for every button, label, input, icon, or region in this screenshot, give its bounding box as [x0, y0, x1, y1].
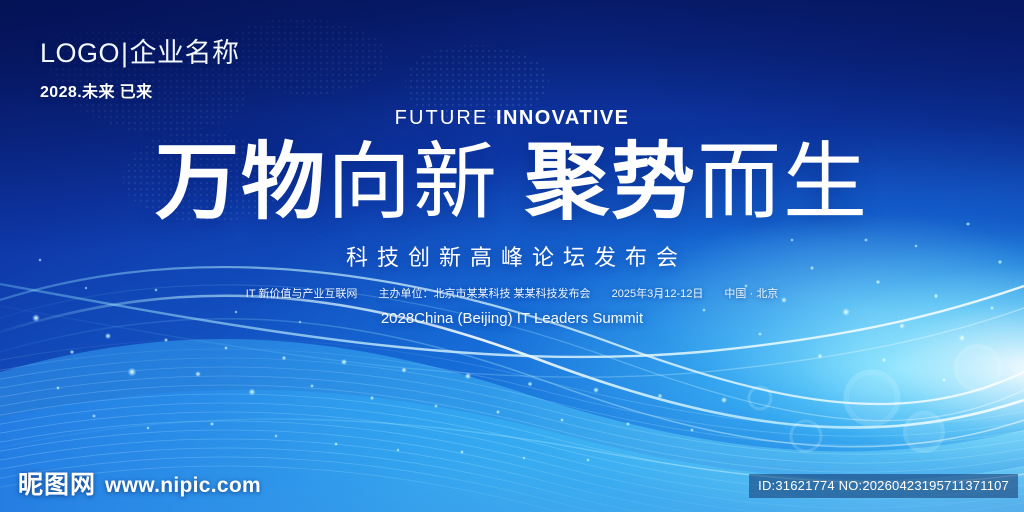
meta-location: 中国 · 北京 — [724, 288, 778, 300]
logo-divider: | — [121, 38, 129, 68]
logo-text: LOGO — [40, 38, 120, 68]
title-segment-2-light: 而生 — [697, 135, 869, 229]
eyebrow-innovative: INNOVATIVE — [496, 107, 629, 129]
watermark-site-name-cn: 昵图网 — [18, 473, 96, 498]
company-name: 企业名称 — [130, 38, 240, 68]
poster-canvas: LOGO|企业名称 2028.未来 已来 FUTURE INNOVATIVE 万… — [0, 0, 1024, 512]
event-meta-line: IT 新价值与产业互联网 主办单位：北京市某某科技 某某科技发布会 2025年3… — [0, 285, 1024, 301]
title-segment-1-light: 向新 — [327, 135, 499, 229]
meta-theme: IT 新价值与产业互联网 — [246, 288, 358, 300]
meta-date: 2025年3月12-12日 — [612, 288, 704, 300]
subtitle-english: 2028China (Beijing) IT Leaders Summit — [0, 310, 1024, 327]
logo-lockup: LOGO|企业名称 — [40, 40, 240, 67]
page-title: 万物向新聚势而生 — [0, 140, 1024, 224]
asset-id-badge: ID:31621774 NO:20260423195711371107 — [749, 474, 1018, 498]
title-segment-1-bold: 万物 — [155, 135, 327, 229]
eyebrow-future: FUTURE — [395, 107, 489, 129]
watermark-site-url: www.nipic.com — [105, 475, 261, 496]
watermark: 昵图网 www.nipic.com — [18, 473, 261, 498]
title-segment-2-bold: 聚势 — [525, 135, 697, 229]
meta-organizer: 主办单位：北京市某某科技 某某科技发布会 — [379, 288, 591, 300]
headline-block: FUTURE INNOVATIVE 万物向新聚势而生 科技创新高峰论坛发布会 I… — [0, 108, 1024, 327]
eyebrow-text: FUTURE INNOVATIVE — [0, 108, 1024, 128]
brand-block: LOGO|企业名称 2028.未来 已来 — [40, 40, 240, 102]
brand-tagline: 2028.未来 已来 — [40, 78, 240, 102]
subtitle-chinese: 科技创新高峰论坛发布会 — [0, 240, 1024, 272]
